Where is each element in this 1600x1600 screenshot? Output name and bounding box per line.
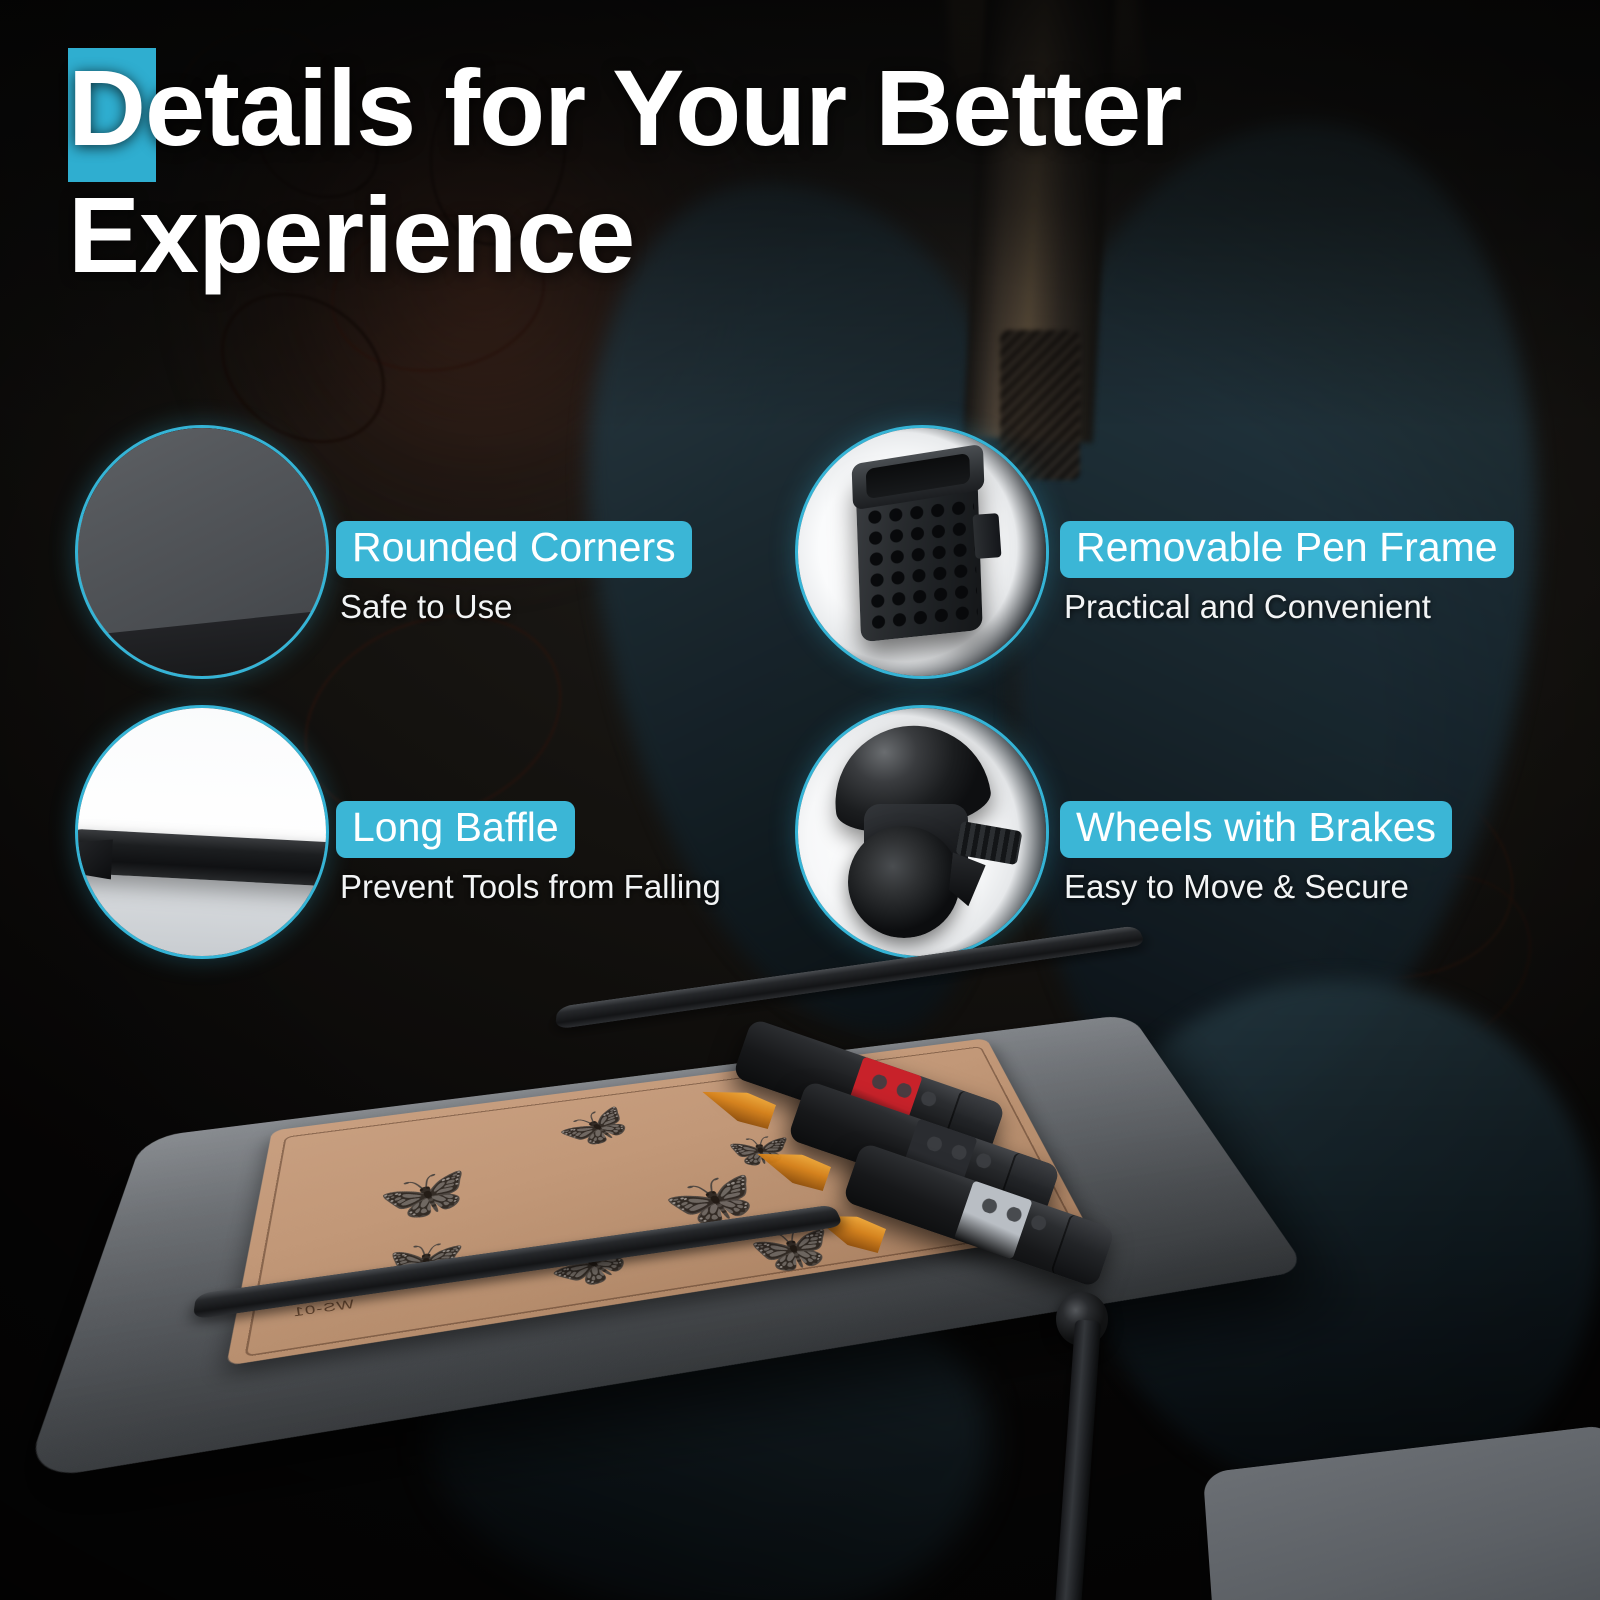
feature-label-removable-pen-frame: Removable Pen Frame Practical and Conven… xyxy=(1060,521,1514,626)
secondary-tray-panel xyxy=(1203,1424,1600,1600)
page-title-line1: Details for Your Better xyxy=(68,47,1181,168)
feature-label-long-baffle: Long Baffle Prevent Tools from Falling xyxy=(336,801,721,906)
feature-subtitle: Practical and Convenient xyxy=(1060,589,1514,625)
feature-subtitle: Prevent Tools from Falling xyxy=(336,869,721,905)
caster-wheel xyxy=(848,826,960,938)
page-title-line2: Experience xyxy=(68,174,634,295)
feature-subtitle: Easy to Move & Secure xyxy=(1060,869,1452,905)
infographic-page: Details for Your BetterExperience Rounde… xyxy=(0,0,1600,1600)
feature-title: Wheels with Brakes xyxy=(1060,801,1452,858)
butterfly-motif: 🦋 xyxy=(551,1102,640,1155)
pen-frame-icon xyxy=(795,425,1049,679)
feature-label-rounded-corners: Rounded Corners Safe to Use xyxy=(336,521,692,626)
stand-pole xyxy=(1055,1319,1101,1600)
feature-title: Long Baffle xyxy=(336,801,575,858)
rounded-corner-icon xyxy=(75,425,329,679)
baffle-end-cap xyxy=(75,837,113,880)
pen-cup-mount-tab xyxy=(972,513,1001,559)
page-title-block: Details for Your BetterExperience xyxy=(68,44,1428,299)
caster-wheel-icon xyxy=(795,705,1049,959)
pen-cup-perforations xyxy=(862,494,978,632)
baffle-rail-back xyxy=(555,925,1146,1029)
feature-subtitle: Safe to Use xyxy=(336,589,692,625)
page-title: Details for Your BetterExperience xyxy=(68,44,1428,299)
feature-label-wheels-with-brakes: Wheels with Brakes Easy to Move & Secure xyxy=(1060,801,1452,906)
feature-title: Removable Pen Frame xyxy=(1060,521,1514,578)
butterfly-motif: 🦋 xyxy=(377,1164,474,1227)
feature-title: Rounded Corners xyxy=(336,521,692,578)
product-photo: 🦋🦋🦋🦋🦋🦋🦋🦋 WS-01 xyxy=(0,940,1600,1600)
baffle-icon xyxy=(75,705,329,959)
